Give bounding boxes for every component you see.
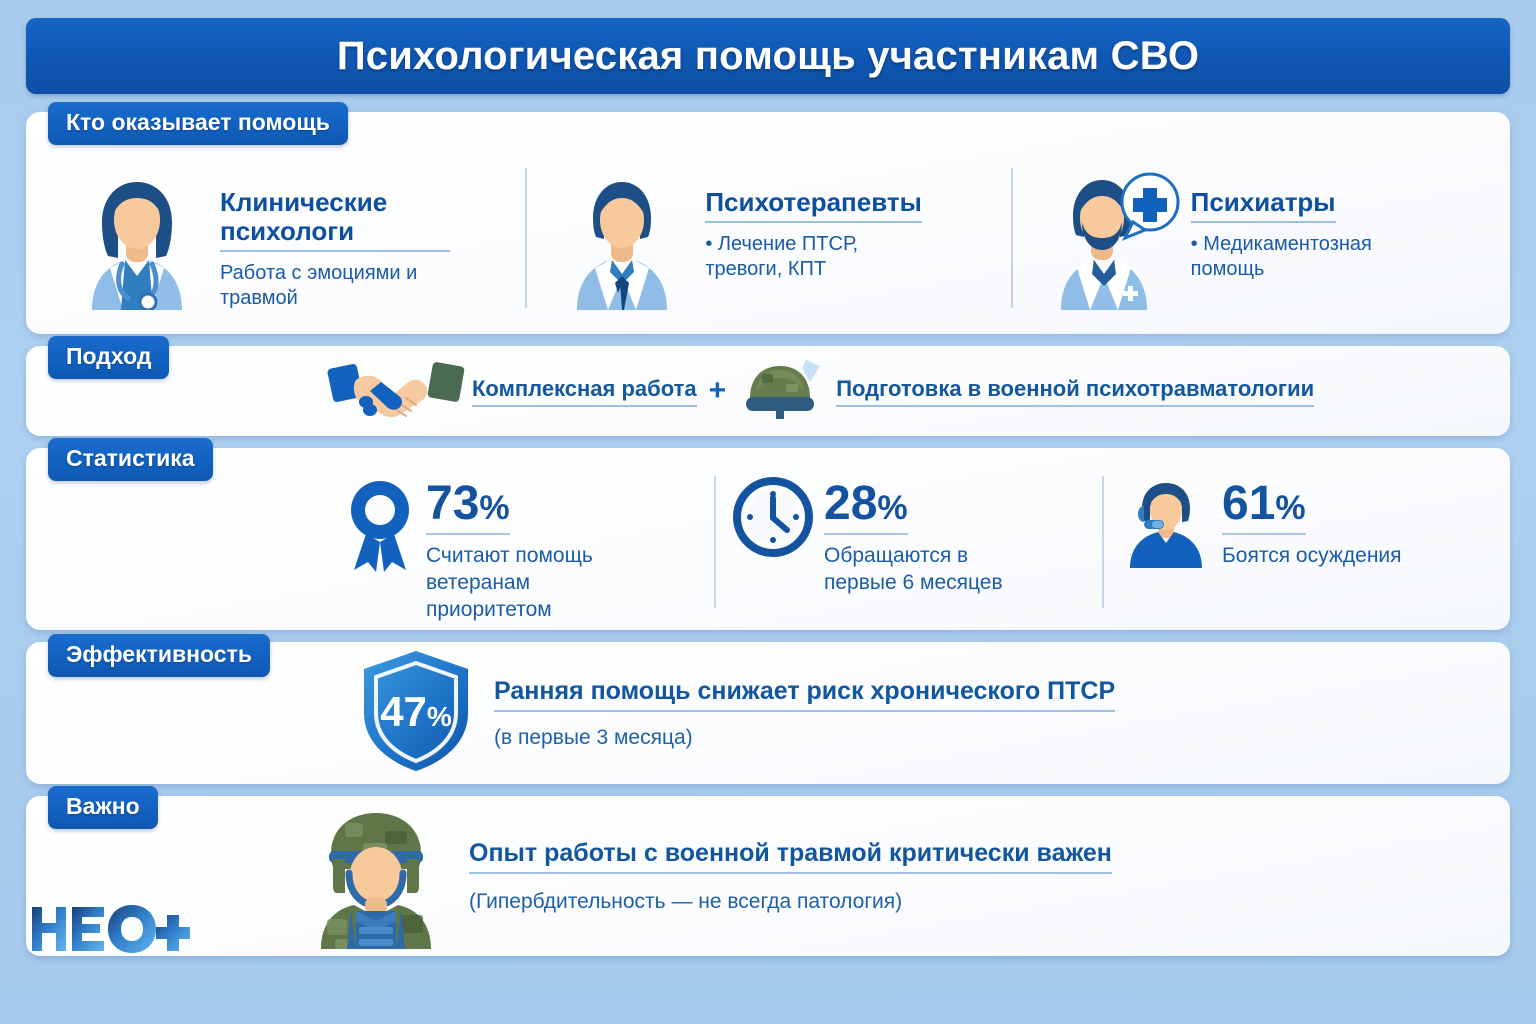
provider-bullet: • bbox=[705, 233, 712, 255]
stat-number: 73 bbox=[426, 477, 479, 530]
clock-icon bbox=[732, 476, 814, 563]
stat-text: 28% Обращаются в первые 6 месяцев bbox=[824, 476, 1039, 597]
stat-value: 61% bbox=[1222, 480, 1306, 535]
effectiveness-text: Ранняя помощь снижает риск хронического … bbox=[494, 677, 1115, 750]
award-ribbon-icon bbox=[344, 476, 416, 581]
provider-name: Психиатры bbox=[1191, 188, 1336, 223]
stat-text: 61% Боятся осуждения bbox=[1222, 476, 1402, 570]
provider-name: Клинические психологи bbox=[220, 188, 450, 252]
male-doctor-avatar-icon bbox=[547, 160, 697, 310]
approach-row: Комплексная работа + Подготовка в военно… bbox=[26, 346, 1510, 436]
approach-left-text: Комплексная работа bbox=[472, 376, 697, 407]
approach-right-text: Подготовка в военной психотравматологии bbox=[836, 376, 1314, 407]
person-headset-icon bbox=[1120, 476, 1212, 573]
page-title-bar: Психологическая помощь участникам СВО bbox=[26, 18, 1510, 94]
stat-number: 28 bbox=[824, 477, 877, 530]
stat-label: Обращаются в первые 6 месяцев bbox=[824, 543, 1039, 597]
provider-name: Психотерапевты bbox=[705, 188, 921, 223]
provider-desc-text: Медикаментозная помощь bbox=[1191, 233, 1372, 280]
infographic-page: Психологическая помощь участникам СВО Кт… bbox=[0, 0, 1536, 1024]
brand-logo bbox=[30, 901, 190, 962]
provider-clinical-psychologists: Клинические психологи Работа с эмоциями … bbox=[40, 160, 525, 311]
stat-value: 28% bbox=[824, 480, 908, 535]
badge-statistics: Статистика bbox=[48, 438, 213, 481]
provider-text: Клинические психологи Работа с эмоциями … bbox=[220, 160, 455, 311]
effectiveness-main-text: Ранняя помощь снижает риск хронического … bbox=[494, 677, 1115, 712]
card-important: Важно bbox=[26, 796, 1510, 956]
female-doctor-avatar-icon bbox=[62, 160, 212, 310]
bearded-doctor-avatar-icon bbox=[1033, 160, 1183, 310]
stat-label: Боятся осуждения bbox=[1222, 543, 1402, 570]
shield-value: 47 bbox=[380, 688, 427, 735]
handshake-icon bbox=[326, 358, 466, 425]
card-effectiveness: Эффективность 47% bbox=[26, 642, 1510, 784]
stat-text: 73% Считают помощь ветеранам приоритетом bbox=[426, 476, 641, 624]
badge-effectiveness: Эффективность bbox=[48, 634, 270, 677]
stat-fear-of-judgement: 61% Боятся осуждения bbox=[1102, 476, 1490, 573]
plus-icon: + bbox=[709, 374, 727, 408]
provider-bullet: • bbox=[1191, 233, 1198, 255]
badge-approach: Подход bbox=[48, 336, 169, 379]
shield-unit: % bbox=[427, 701, 452, 732]
stat-unit: % bbox=[1275, 489, 1305, 527]
provider-desc-text: Лечение ПТСР, тревоги, КПТ bbox=[705, 233, 858, 280]
card-approach: Подход Комплексная работа + bbox=[26, 346, 1510, 436]
stat-number: 61 bbox=[1222, 477, 1275, 530]
provider-psychotherapists: Психотерапевты • Лечение ПТСР, тревоги, … bbox=[525, 160, 1010, 310]
effectiveness-sub-text: (в первые 3 месяца) bbox=[494, 726, 1115, 750]
important-sub-text: (Гипербдительность — не всегда патология… bbox=[469, 890, 1112, 914]
stat-label: Считают помощь ветеранам приоритетом bbox=[426, 543, 641, 624]
providers-row: Клинические психологи Работа с эмоциями … bbox=[26, 112, 1510, 334]
provider-text: Психотерапевты • Лечение ПТСР, тревоги, … bbox=[705, 160, 940, 282]
stat-first-six-months: 28% Обращаются в первые 6 месяцев bbox=[714, 476, 1102, 597]
stat-unit: % bbox=[877, 489, 907, 527]
provider-desc: Работа с эмоциями и травмой bbox=[220, 261, 455, 311]
provider-desc: • Медикаментозная помощь bbox=[1191, 232, 1426, 282]
badge-providers: Кто оказывает помощь bbox=[48, 102, 348, 145]
stat-value: 73% bbox=[426, 480, 510, 535]
badge-important: Важно bbox=[48, 786, 158, 829]
important-text: Опыт работы с военной травмой критически… bbox=[469, 839, 1112, 914]
military-helmet-icon bbox=[738, 358, 830, 425]
card-statistics: Статистика 73% Считают помощь ветеранам … bbox=[26, 448, 1510, 630]
stat-unit: % bbox=[479, 489, 509, 527]
important-row: Опыт работы с военной травмой критически… bbox=[26, 796, 1510, 956]
page-title: Психологическая помощь участникам СВО bbox=[337, 34, 1199, 79]
provider-desc: • Лечение ПТСР, тревоги, КПТ bbox=[705, 232, 940, 282]
soldier-avatar-icon bbox=[301, 799, 451, 954]
important-main-text: Опыт работы с военной травмой критически… bbox=[469, 839, 1112, 874]
card-providers: Кто оказывает помощь bbox=[26, 112, 1510, 334]
provider-psychiatrists: Психиатры • Медикаментозная помощь bbox=[1011, 160, 1496, 310]
stat-priority: 73% Считают помощь ветеранам приоритетом bbox=[326, 476, 714, 624]
shield-icon: 47% bbox=[356, 648, 476, 779]
statistics-row: 73% Считают помощь ветеранам приоритетом bbox=[26, 448, 1510, 630]
provider-text: Психиатры • Медикаментозная помощь bbox=[1191, 160, 1426, 282]
